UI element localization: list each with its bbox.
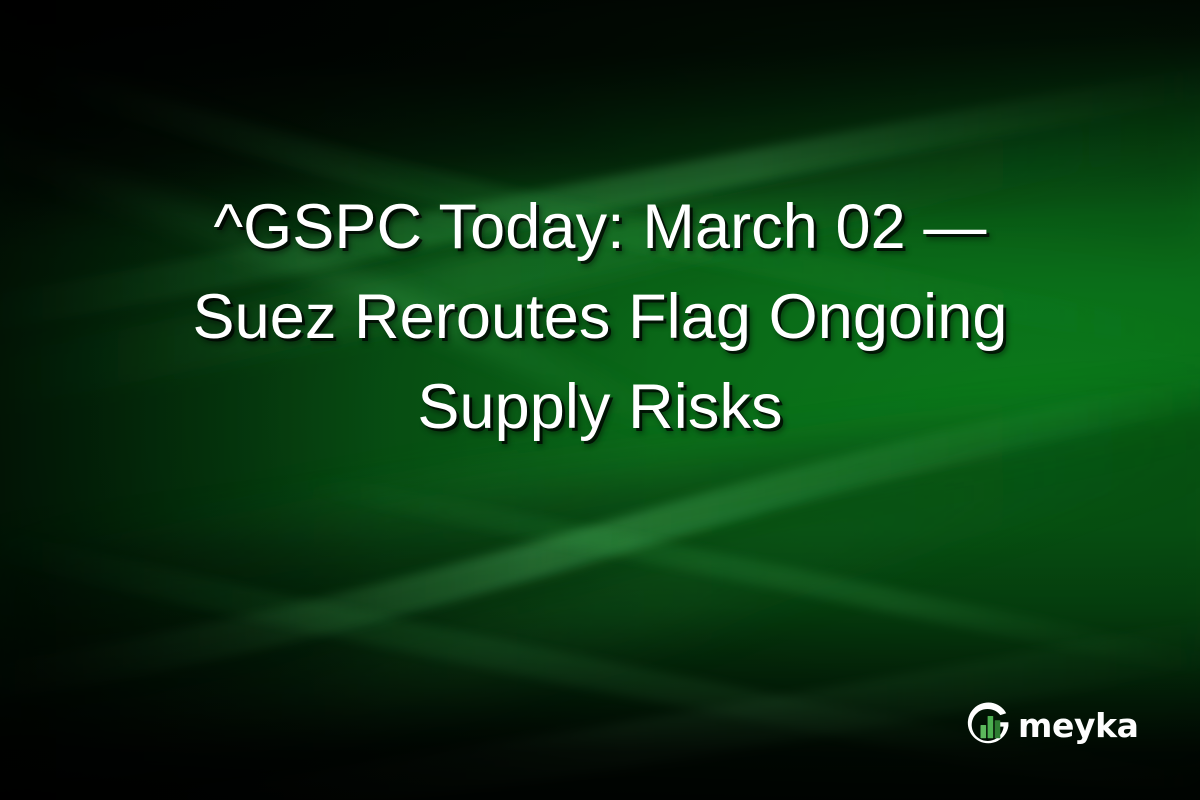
brand-logo: meyka xyxy=(962,700,1139,752)
logo-bar-1 xyxy=(981,725,987,738)
meyka-logo-icon xyxy=(962,700,1014,752)
headline-container: ^GSPC Today: March 02 — Suez Reroutes Fl… xyxy=(0,182,1200,452)
logo-bar-3 xyxy=(995,720,1001,738)
social-share-card: ^GSPC Today: March 02 — Suez Reroutes Fl… xyxy=(0,0,1200,800)
brand-wordmark: meyka xyxy=(1018,709,1139,744)
logo-bar-2 xyxy=(988,716,994,738)
headline-title: ^GSPC Today: March 02 — Suez Reroutes Fl… xyxy=(60,182,1140,452)
